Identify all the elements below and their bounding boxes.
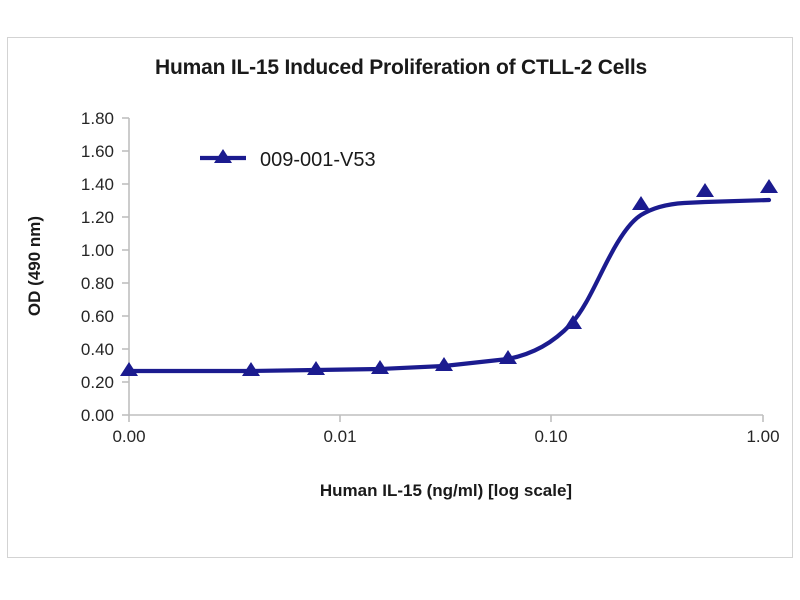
y-axis-title: OD (490 nm) bbox=[25, 216, 44, 316]
y-tick-label: 0.40 bbox=[81, 340, 114, 359]
x-tick-label: 0.01 bbox=[323, 427, 356, 446]
series-markers-009-001-v53 bbox=[120, 179, 778, 376]
y-tick-label: 1.20 bbox=[81, 208, 114, 227]
chart-plot-area: 1.80 1.60 1.40 1.20 1.00 0.80 0.60 0.40 … bbox=[8, 38, 794, 559]
y-tick-label: 1.00 bbox=[81, 241, 114, 260]
figure-panel: Human IL-15 Induced Proliferation of CTL… bbox=[7, 37, 793, 558]
y-tick-label: 1.40 bbox=[81, 175, 114, 194]
y-axis-tick-labels: 1.80 1.60 1.40 1.20 1.00 0.80 0.60 0.40 … bbox=[81, 109, 114, 425]
y-tick-label: 0.80 bbox=[81, 274, 114, 293]
x-axis-ticks bbox=[129, 415, 763, 422]
x-tick-label: 0.10 bbox=[534, 427, 567, 446]
x-tick-label: 0.00 bbox=[112, 427, 145, 446]
data-point-marker bbox=[564, 315, 582, 329]
data-point-marker bbox=[696, 183, 714, 197]
data-point-marker bbox=[760, 179, 778, 193]
x-axis-tick-labels: 0.00 0.01 0.10 1.00 bbox=[112, 427, 779, 446]
y-tick-label: 1.60 bbox=[81, 142, 114, 161]
x-axis-title: Human IL-15 (ng/ml) [log scale] bbox=[320, 481, 572, 500]
y-tick-label: 0.60 bbox=[81, 307, 114, 326]
series-line-009-001-v53 bbox=[129, 200, 769, 371]
chart-legend: 009-001-V53 bbox=[200, 149, 376, 171]
y-tick-label: 1.80 bbox=[81, 109, 114, 128]
y-tick-label: 0.20 bbox=[81, 373, 114, 392]
y-tick-label: 0.00 bbox=[81, 406, 114, 425]
legend-label-009-001-v53: 009-001-V53 bbox=[260, 149, 376, 171]
x-tick-label: 1.00 bbox=[746, 427, 779, 446]
data-point-marker bbox=[632, 196, 650, 210]
